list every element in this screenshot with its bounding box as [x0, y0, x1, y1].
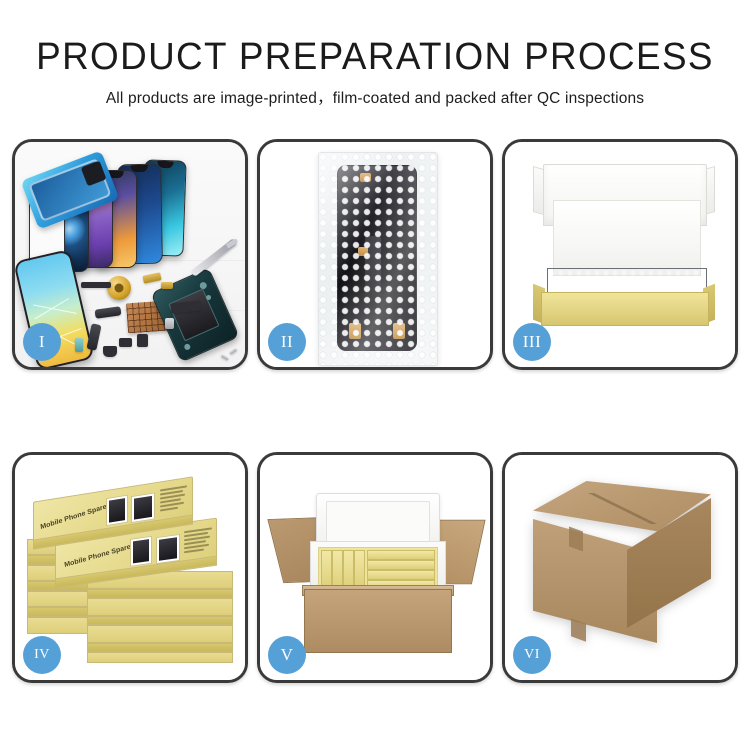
- step-badge-5: V: [268, 636, 306, 674]
- process-step-2: II: [257, 139, 493, 370]
- header: PRODUCT PREPARATION PROCESS All products…: [0, 36, 750, 108]
- gold-component: [107, 276, 131, 300]
- product-preparation-infographic: PRODUCT PREPARATION PROCESS All products…: [0, 0, 750, 750]
- process-step-grid: I II: [12, 139, 738, 691]
- process-step-3: III: [502, 139, 738, 370]
- step-badge-4: IV: [23, 636, 61, 674]
- step-badge-2: II: [268, 323, 306, 361]
- page-title: PRODUCT PREPARATION PROCESS: [11, 36, 739, 78]
- process-step-4: Mobile Phone Spare Parts Mobile Phone Sp…: [12, 452, 248, 683]
- step-badge-6: VI: [513, 636, 551, 674]
- process-step-1: I: [12, 139, 248, 370]
- step-badge-3: III: [513, 323, 551, 361]
- process-step-5: V: [257, 452, 493, 683]
- step-badge-1: I: [23, 323, 61, 361]
- page-subtitle: All products are image-printed，film-coat…: [0, 89, 750, 108]
- process-step-6: VI: [502, 452, 738, 683]
